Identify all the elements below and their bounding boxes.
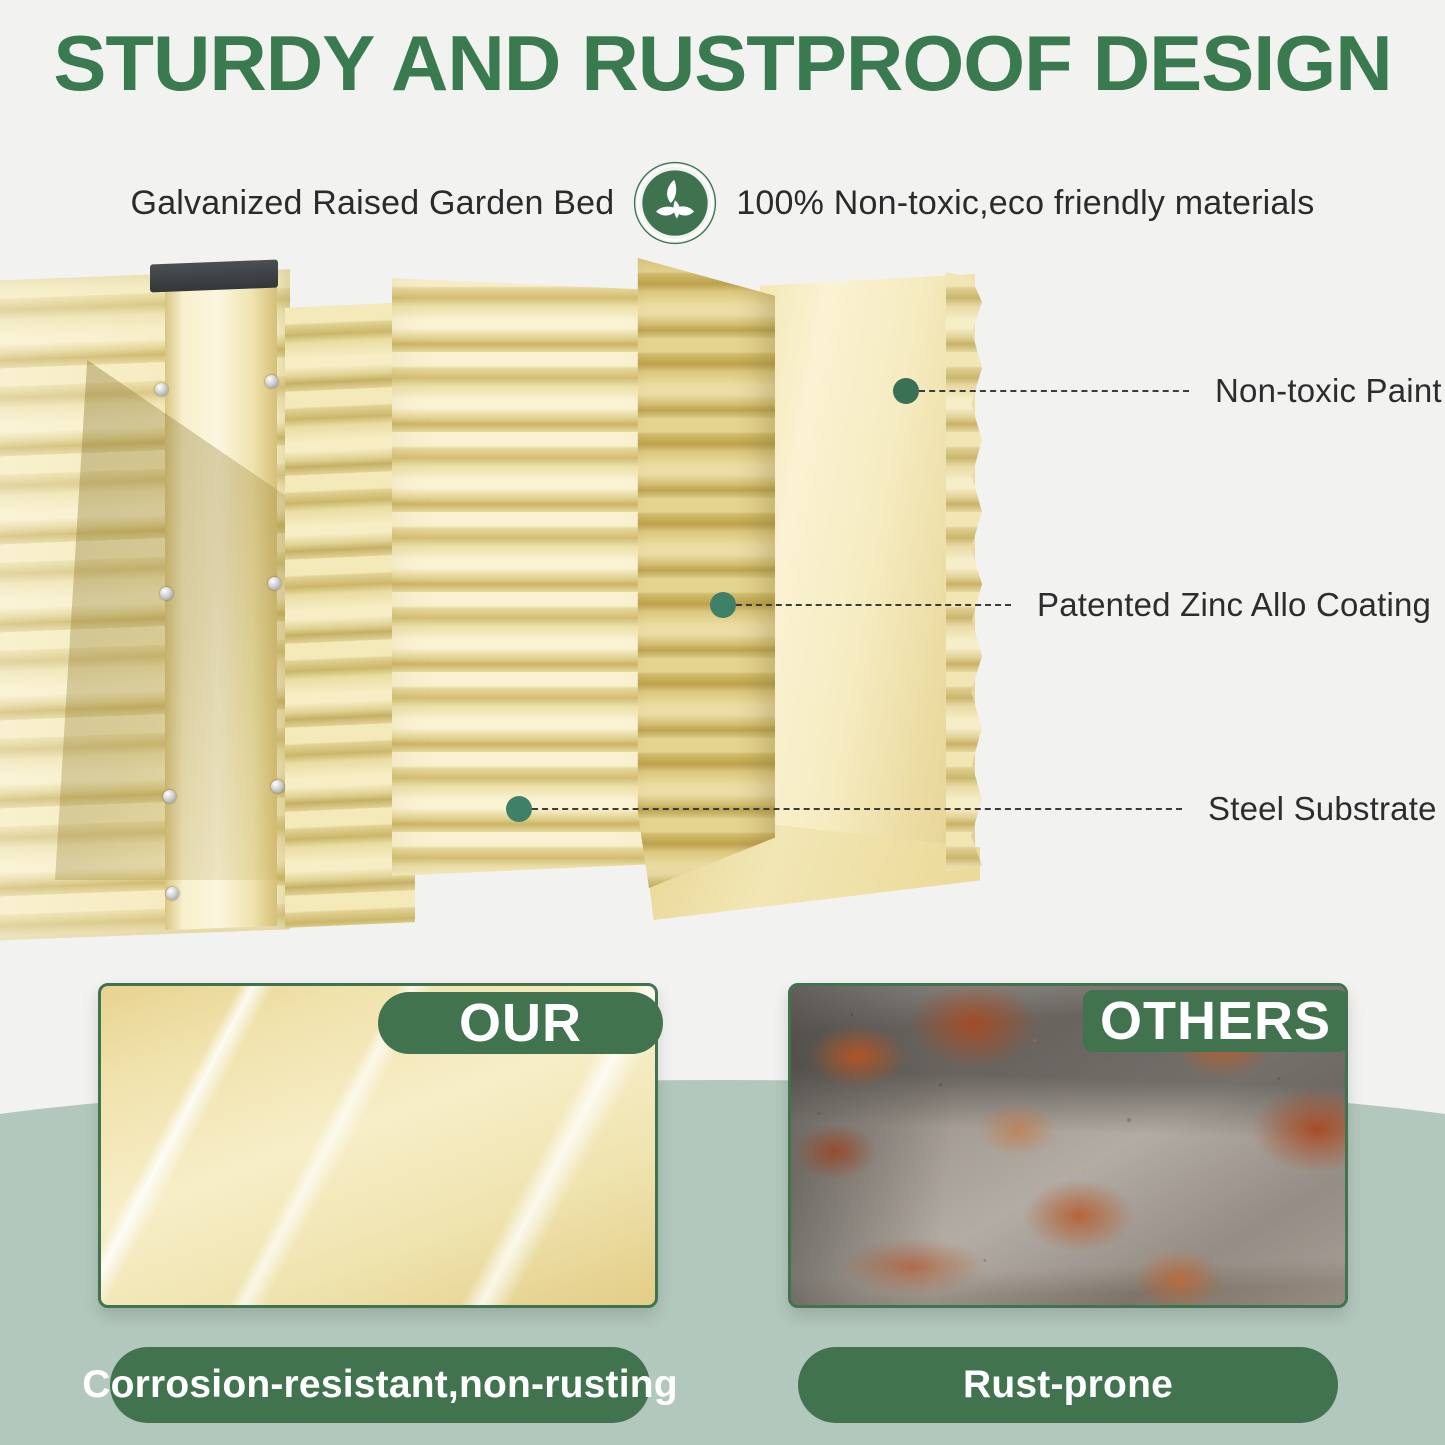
our-caption-pill: Corrosion-resistant,non-rusting: [110, 1347, 650, 1423]
callout-zinc-coating: Patented Zinc Allo Coating: [710, 586, 1431, 624]
screw-icon: [265, 375, 278, 388]
screw-icon: [155, 383, 168, 396]
callout-label: Steel Substrate: [1208, 790, 1437, 828]
callout-dot-steel-substrate: [506, 796, 532, 822]
callout-steel-substrate: Steel Substrate: [506, 790, 1437, 828]
eco-leaves-icon: [632, 160, 718, 246]
comparison-others: OTHERS Rust-prone: [0, 0, 560, 325]
callout-dot-zinc-coating: [710, 592, 736, 618]
callout-label: Non-toxic Paint: [1215, 372, 1442, 410]
infographic-root: STURDY AND RUSTPROOF DESIGN Galvanized R…: [0, 0, 1445, 1445]
steel-sheet-right-panel: [760, 274, 975, 864]
callout-dot-non-toxic-paint: [893, 378, 919, 404]
steel-sheet-right-surface: [760, 274, 975, 864]
callout-leader-line: [736, 604, 1011, 606]
screw-icon: [160, 587, 173, 600]
callout-leader-line: [532, 808, 1182, 810]
callout-leader-line: [919, 390, 1189, 392]
callout-label: Patented Zinc Allo Coating: [1037, 586, 1431, 624]
screw-icon: [163, 790, 176, 803]
our-tag: OUR: [378, 992, 663, 1054]
callout-non-toxic-paint: Non-toxic Paint: [893, 372, 1442, 410]
subtitle-right: 100% Non-toxic,eco friendly materials: [736, 184, 1314, 223]
others-caption-pill: Rust-prone: [798, 1347, 1338, 1423]
screw-icon: [268, 577, 281, 590]
corrugated-wave-edge: [946, 272, 982, 872]
others-tag: OTHERS: [1083, 990, 1348, 1052]
screw-icon: [271, 780, 284, 793]
screw-icon: [166, 887, 179, 900]
